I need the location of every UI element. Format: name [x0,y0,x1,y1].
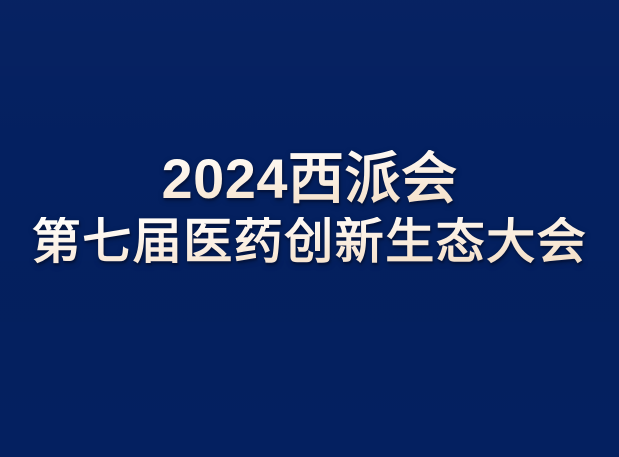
event-title-secondary: 第七届医药创新生态大会 [0,217,619,267]
event-title-slide: 2024西派会 第七届医药创新生态大会 [0,0,619,457]
title-block: 2024西派会 第七届医药创新生态大会 [0,150,619,267]
event-title-primary: 2024西派会 [0,150,619,208]
